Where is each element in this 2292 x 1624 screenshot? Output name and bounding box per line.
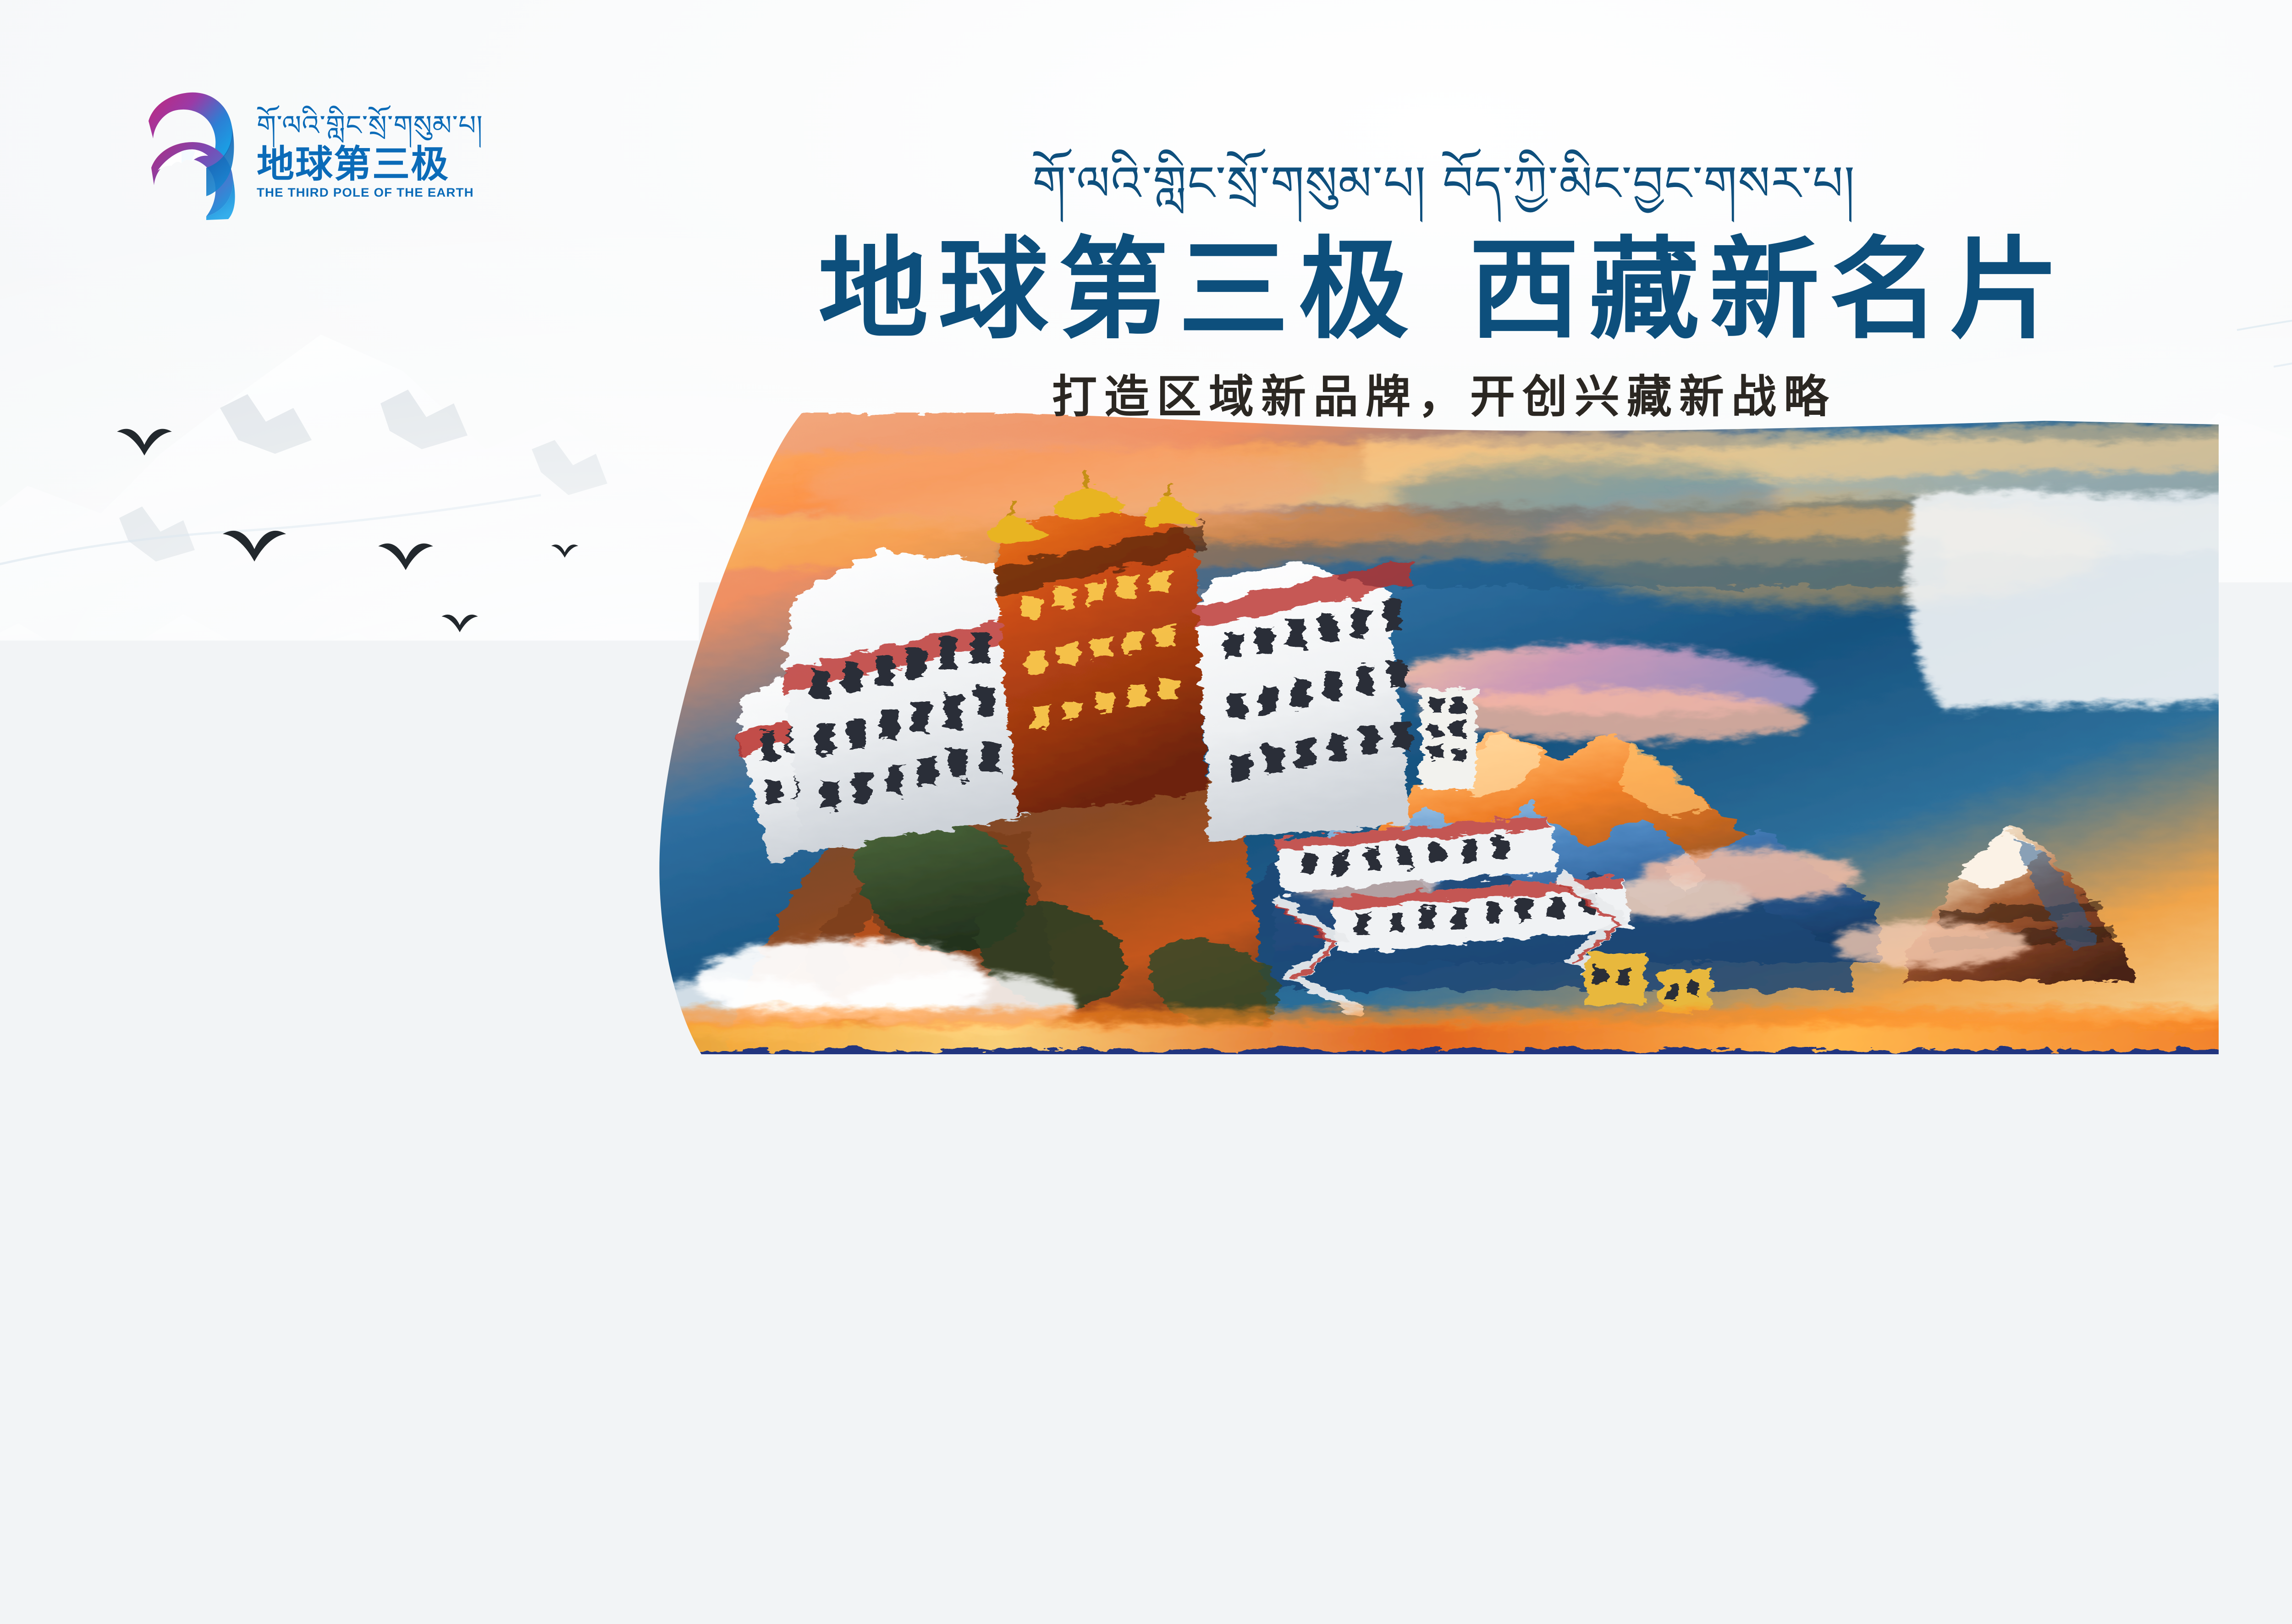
bird-icon — [115, 422, 174, 458]
pillar-people: མི་ཡི་མཆོག 人之极 站位时代新起点，彰显发展新高度 — [1866, 1366, 2292, 1511]
background-mountain-left — [0, 257, 908, 944]
pillar-mountain: རི་ཡི་མཆོག 山之极 统筹区域新经济，赋能生态新愿景 — [527, 1366, 1022, 1511]
bird-icon — [532, 688, 559, 705]
pillar-header: རི་ཡི་མཆོག 山之极 — [527, 1366, 1022, 1458]
cloud-band-right — [1925, 779, 2292, 1155]
pillar-labels: རི་ཡི་མཆོག 山之极 — [717, 1374, 832, 1449]
pillar-labels: ཆུ་བོའི་མཆོག 水之极 — [1378, 1374, 1510, 1449]
pillar-header: མི་ཡི་མཆོག 人之极 — [1866, 1366, 2292, 1458]
bird-icon — [339, 678, 391, 710]
pillar-description: 构建产业新模式，深化产业新变革 — [1196, 1481, 1691, 1511]
pillar-description: 统筹区域新经济，赋能生态新愿景 — [527, 1481, 1022, 1511]
pillar-chinese: 人之极 — [2055, 1411, 2171, 1449]
bird-icon — [413, 724, 435, 738]
pillar-water: ཆུ་བོའི་མཆོག 水之极 构建产业新模式，深化产业新变革 — [1196, 1366, 1691, 1511]
brand-logo[interactable]: གོ་ལའི་གླིང་སྲོ་གསུམ་པ། 地球第三极 THE THIRD … — [138, 83, 483, 220]
bracket-right-icon — [1523, 1366, 1561, 1458]
bird-icon — [440, 610, 479, 634]
tibet-landscape-collage — [587, 413, 2246, 1128]
pillar-header: ཆུ་བོའི་མཆོག 水之极 — [1196, 1366, 1691, 1458]
pillar-chinese: 山之极 — [717, 1411, 832, 1449]
navy-ink-brush-stroke — [92, 1031, 2246, 1371]
poster-canvas: གོ་ལའི་གླིང་སྲོ་གསུམ་པ། 地球第三极 THE THIRD … — [0, 0, 2292, 1624]
logo-chinese-text: 地球第三极 — [257, 145, 483, 184]
pillar-tibetan: ཆུ་བོའི་མཆོག — [1378, 1374, 1510, 1408]
title-part-1: 地球第三极 — [818, 226, 1419, 354]
bird-icon — [486, 651, 520, 672]
bird-icon — [376, 536, 435, 573]
pillar-tibetan: རི་ཡི་མཆོག — [718, 1374, 832, 1408]
pillar-chinese: 水之极 — [1386, 1411, 1502, 1449]
pillars-group: རི་ཡི་མཆོག 山之极 统筹区域新经济，赋能生态新愿景 — [0, 1366, 2292, 1511]
logo-tibetan-text: གོ་ལའི་གླིང་སྲོ་གསུམ་པ། — [257, 109, 483, 143]
cloud-band-center — [275, 798, 963, 1082]
page-title: 地球第三极西藏新名片 — [0, 233, 2292, 347]
pillar-tibetan: མི་ཡི་མཆོག — [2055, 1374, 2171, 1408]
ribbon-snow-peak-logo-icon — [138, 83, 243, 220]
bird-icon — [220, 523, 289, 565]
bracket-left-icon — [666, 1366, 704, 1458]
bracket-right-icon — [2184, 1366, 2222, 1458]
pillar-labels: མི་ཡི་མཆོག 人之极 — [2055, 1374, 2171, 1449]
title-part-2: 西藏新名片 — [1469, 226, 2070, 354]
bird-icon — [477, 747, 495, 759]
background-mountain-right — [1824, 220, 2292, 999]
subtitle: 打造区域新品牌，开创兴藏新战略 — [0, 370, 2292, 424]
logo-english-text: THE THIRD POLE OF THE EARTH — [257, 186, 487, 200]
bracket-right-icon — [845, 1366, 884, 1458]
pillar-description: 站位时代新起点，彰显发展新高度 — [1866, 1481, 2292, 1511]
bracket-left-icon — [2004, 1366, 2043, 1458]
bracket-left-icon — [1327, 1366, 1365, 1458]
cloud-band-left — [0, 633, 917, 981]
bird-icon — [257, 637, 321, 677]
bird-icon — [550, 541, 579, 559]
